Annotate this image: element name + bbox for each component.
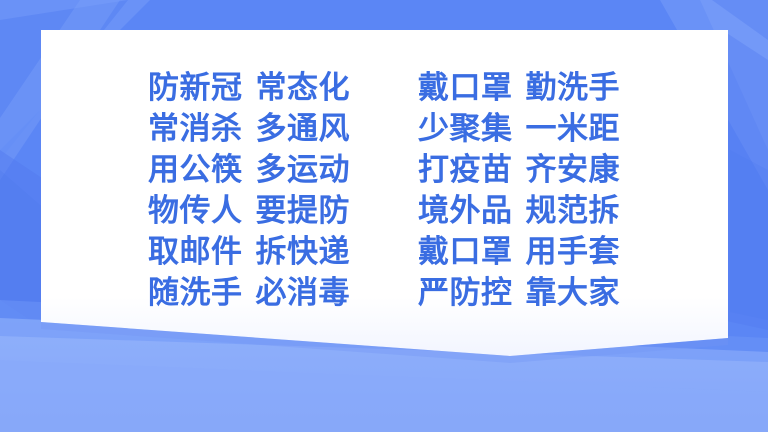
slogan-row: 防新冠 常态化 [148,68,350,109]
slogan-phrase-second: 用手套 [526,232,621,273]
slogan-phrase-first: 打疫苗 [418,150,513,191]
slogan-phrase-first: 戴口罩 [418,232,513,273]
slogan-phrase-second: 要提防 [256,191,351,232]
slogan-phrase-first: 物传人 [148,191,243,232]
slogan-column-left: 防新冠 常态化 常消杀 多通风 用公筷 多运动 物传人 要提防 [148,68,350,314]
slogan-phrase-first: 少聚集 [418,109,513,150]
slogan-phrase-first: 随洗手 [148,273,243,314]
poster-canvas: 防新冠 常态化 常消杀 多通风 用公筷 多运动 物传人 要提防 [0,0,768,432]
slogan-row: 常消杀 多通风 [148,109,350,150]
slogan-phrase-second: 齐安康 [526,150,621,191]
slogan-row: 严防控 靠大家 [418,273,620,314]
slogan-grid: 防新冠 常态化 常消杀 多通风 用公筷 多运动 物传人 要提防 [148,68,620,314]
slogan-phrase-second: 必消毒 [256,273,351,314]
slogan-row: 戴口罩 勤洗手 [418,68,620,109]
slogan-phrase-first: 严防控 [418,273,513,314]
slogan-phrase-first: 常消杀 [148,109,243,150]
slogan-phrase-first: 防新冠 [148,68,243,109]
slogan-row: 境外品 规范拆 [418,191,620,232]
slogan-phrase-first: 境外品 [418,191,513,232]
slogan-phrase-second: 拆快递 [256,232,351,273]
slogan-row: 随洗手 必消毒 [148,273,350,314]
slogan-block: 防新冠 常态化 常消杀 多通风 用公筷 多运动 物传人 要提防 [0,0,768,432]
slogan-phrase-second: 多运动 [256,150,351,191]
slogan-phrase-second: 多通风 [256,109,351,150]
slogan-row: 打疫苗 齐安康 [418,150,620,191]
slogan-phrase-second: 勤洗手 [526,68,621,109]
slogan-column-right: 戴口罩 勤洗手 少聚集 一米距 打疫苗 齐安康 境外品 规范拆 [418,68,620,314]
slogan-row: 取邮件 拆快递 [148,232,350,273]
slogan-phrase-second: 规范拆 [526,191,621,232]
slogan-phrase-first: 用公筷 [148,150,243,191]
slogan-phrase-second: 常态化 [256,68,351,109]
slogan-phrase-second: 靠大家 [526,273,621,314]
slogan-row: 物传人 要提防 [148,191,350,232]
slogan-phrase-first: 戴口罩 [418,68,513,109]
slogan-phrase-first: 取邮件 [148,232,243,273]
slogan-row: 少聚集 一米距 [418,109,620,150]
slogan-row: 用公筷 多运动 [148,150,350,191]
slogan-phrase-second: 一米距 [526,109,621,150]
slogan-row: 戴口罩 用手套 [418,232,620,273]
